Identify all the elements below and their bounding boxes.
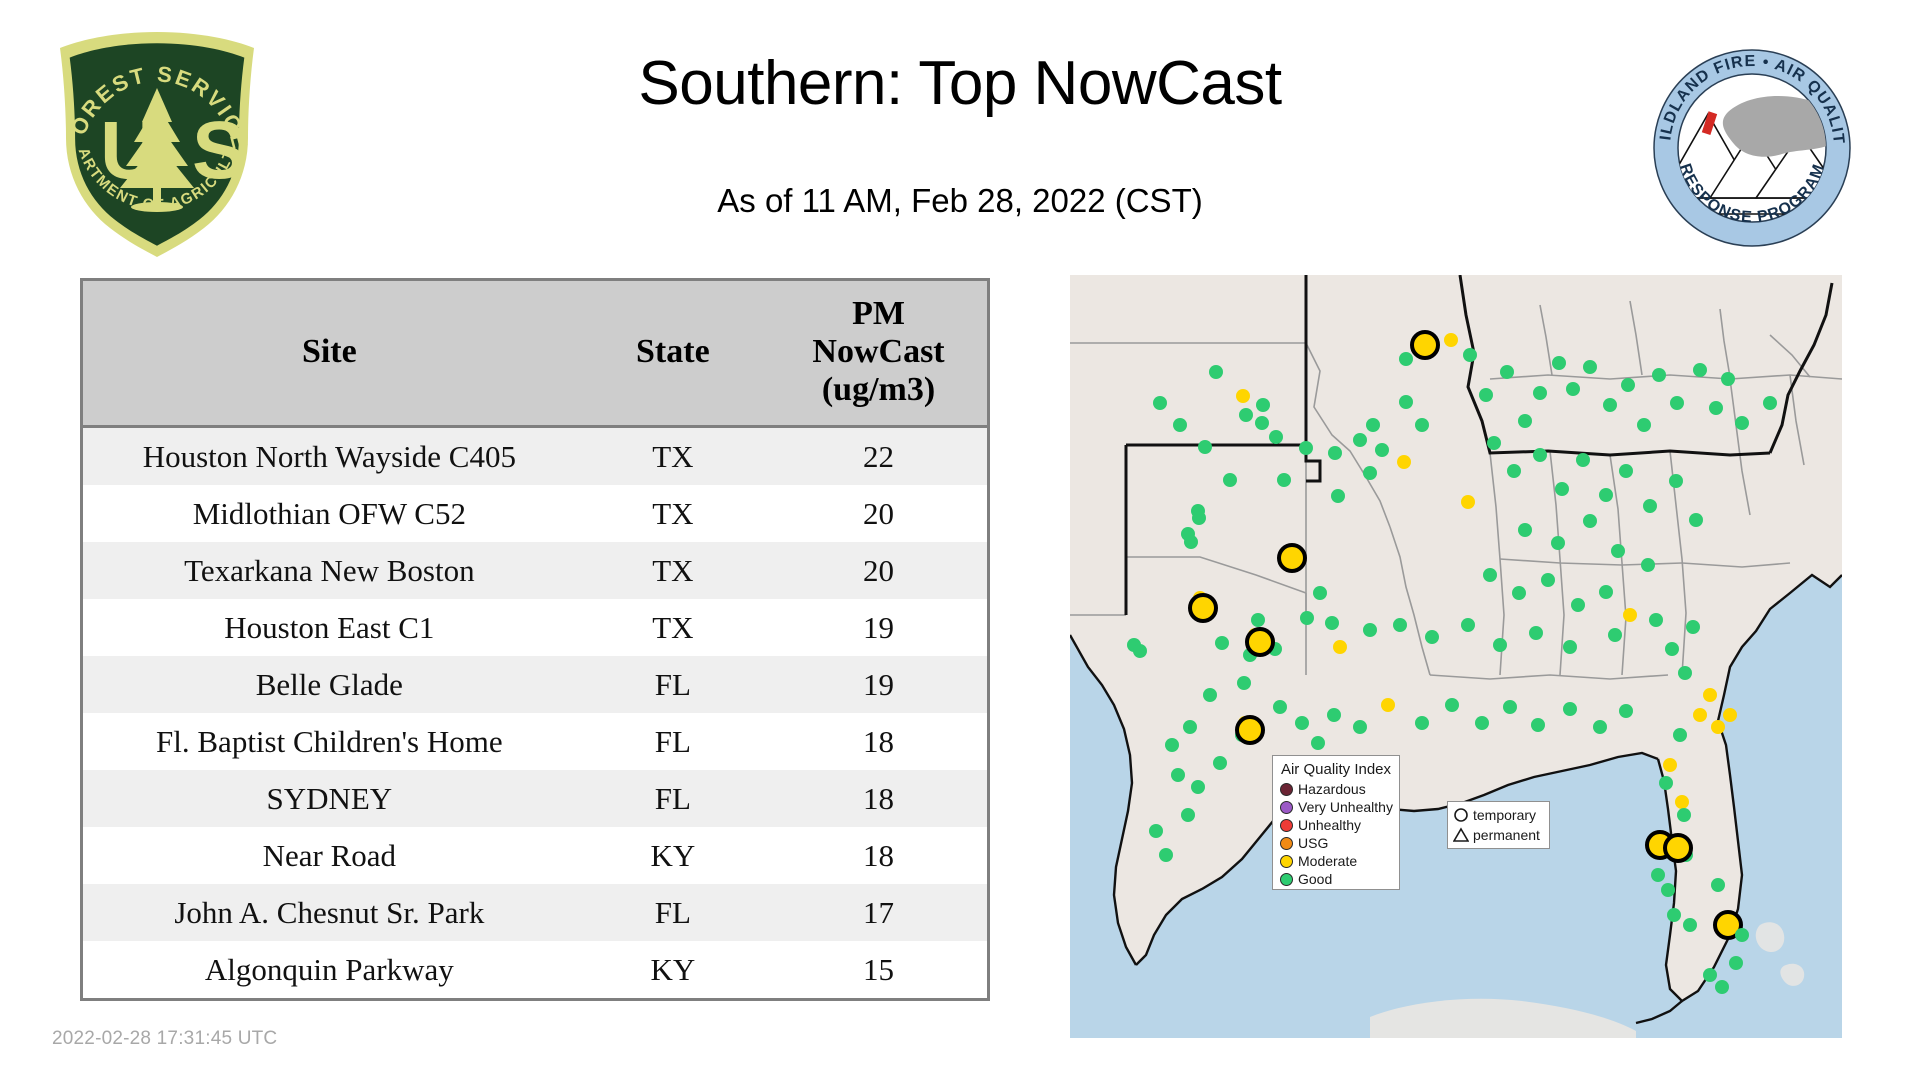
monitor-dot[interactable]	[1399, 395, 1413, 409]
monitor-dot[interactable]	[1711, 878, 1725, 892]
aqi-swatch-icon	[1280, 801, 1293, 814]
monitor-dot[interactable]	[1637, 418, 1651, 432]
state-cell: FL	[576, 713, 770, 770]
aqi-legend-row: Unhealthy	[1280, 817, 1392, 834]
monitor-dot[interactable]	[1313, 586, 1327, 600]
monitor-dot[interactable]	[1461, 495, 1475, 509]
monitor-dot[interactable]	[1269, 430, 1283, 444]
aqi-legend-label: Moderate	[1298, 854, 1357, 869]
state-cell: TX	[576, 427, 770, 486]
aqi-legend-row: Hazardous	[1280, 781, 1392, 798]
monitor-dot[interactable]	[1735, 416, 1749, 430]
monitor-dot[interactable]	[1375, 443, 1389, 457]
monitor-dot[interactable]	[1678, 666, 1692, 680]
monitor-dot[interactable]	[1183, 720, 1197, 734]
monitor-dot[interactable]	[1763, 396, 1777, 410]
monitor-dot[interactable]	[1173, 418, 1187, 432]
column-header-pm-line3: (ug/m3)	[774, 371, 983, 409]
monitor-dot[interactable]	[1273, 700, 1287, 714]
monitor-dot[interactable]	[1641, 558, 1655, 572]
aqi-swatch-icon	[1280, 855, 1293, 868]
monitor-dot[interactable]	[1277, 473, 1291, 487]
monitor-dot[interactable]	[1529, 626, 1543, 640]
state-cell: FL	[576, 770, 770, 827]
pm-nowcast-cell: 19	[770, 599, 987, 656]
monitor-dot[interactable]	[1723, 708, 1737, 722]
monitor-dot[interactable]	[1571, 598, 1585, 612]
monitor-dot[interactable]	[1665, 642, 1679, 656]
monitor-dot[interactable]	[1603, 398, 1617, 412]
air-quality-map[interactable]	[1070, 275, 1842, 1038]
column-header-state-label: State	[636, 333, 710, 370]
site-cell: Houston East C1	[83, 599, 576, 656]
monitor-dot[interactable]	[1683, 918, 1697, 932]
aqi-legend-row: USG	[1280, 835, 1392, 852]
monitor-dot[interactable]	[1325, 616, 1339, 630]
pm-nowcast-cell: 18	[770, 770, 987, 827]
table-row: Houston East C1TX19	[83, 599, 987, 656]
monitor-dot[interactable]	[1661, 883, 1675, 897]
monitor-dot[interactable]	[1703, 688, 1717, 702]
state-cell: KY	[576, 827, 770, 884]
monitor-dot[interactable]	[1295, 716, 1309, 730]
monitor-dot[interactable]	[1165, 738, 1179, 752]
monitor-dot[interactable]	[1487, 436, 1501, 450]
monitor-dot[interactable]	[1366, 418, 1380, 432]
state-cell: FL	[576, 656, 770, 713]
table-row: Algonquin ParkwayKY15	[83, 941, 987, 998]
monitor-dot[interactable]	[1251, 613, 1265, 627]
monitor-dot[interactable]	[1729, 956, 1743, 970]
aqi-legend-label: Very Unhealthy	[1298, 800, 1393, 815]
monitor-dot[interactable]	[1667, 908, 1681, 922]
monitor-dot[interactable]	[1608, 628, 1622, 642]
monitor-dot[interactable]	[1463, 348, 1477, 362]
monitor-dot[interactable]	[1686, 620, 1700, 634]
monitor-dot-highlighted[interactable]	[1412, 332, 1438, 358]
monitor-dot[interactable]	[1444, 333, 1458, 347]
monitor-dot[interactable]	[1711, 720, 1725, 734]
monitor-dot-highlighted[interactable]	[1279, 545, 1305, 571]
monitor-dot[interactable]	[1299, 441, 1313, 455]
monitor-dot[interactable]	[1563, 640, 1577, 654]
monitor-dot[interactable]	[1213, 756, 1227, 770]
usfs-shield-svg: FOREST SERVICE DEPARTMENT OF AGRICULTURE…	[52, 26, 262, 258]
site-cell: Near Road	[83, 827, 576, 884]
monitor-dot[interactable]	[1677, 808, 1691, 822]
monitor-dot-highlighted[interactable]	[1190, 595, 1216, 621]
aqi-legend-title: Air Quality Index	[1280, 761, 1392, 778]
monitor-dot[interactable]	[1311, 736, 1325, 750]
monitor-dot[interactable]	[1566, 382, 1580, 396]
monitor-dot[interactable]	[1552, 356, 1566, 370]
monitor-dot[interactable]	[1255, 416, 1269, 430]
monitor-dot[interactable]	[1619, 704, 1633, 718]
pm-nowcast-cell: 15	[770, 941, 987, 998]
monitor-dot[interactable]	[1703, 968, 1717, 982]
monitor-dot[interactable]	[1533, 448, 1547, 462]
site-cell: Midlothian OFW C52	[83, 485, 576, 542]
table-header-row: Site State PM NowCast (ug/m3)	[83, 281, 987, 427]
monitor-dot[interactable]	[1583, 514, 1597, 528]
aqi-swatch-icon	[1280, 819, 1293, 832]
monitor-dot[interactable]	[1475, 716, 1489, 730]
monitor-dot[interactable]	[1425, 630, 1439, 644]
monitor-dot[interactable]	[1236, 389, 1250, 403]
monitor-dot[interactable]	[1353, 433, 1367, 447]
monitor-dot[interactable]	[1191, 780, 1205, 794]
column-header-state: State	[576, 281, 770, 427]
monitor-dot[interactable]	[1651, 868, 1665, 882]
monitor-dot[interactable]	[1555, 482, 1569, 496]
state-cell: FL	[576, 884, 770, 941]
column-header-pm-line1: PM	[774, 295, 983, 333]
footer-timestamp: 2022-02-28 17:31:45 UTC	[52, 1028, 277, 1050]
monitor-dot-highlighted[interactable]	[1665, 835, 1691, 861]
site-cell: Houston North Wayside C405	[83, 427, 576, 486]
triangle-icon	[1453, 826, 1469, 844]
monitor-dot[interactable]	[1328, 446, 1342, 460]
pm-nowcast-cell: 20	[770, 542, 987, 599]
monitor-dot[interactable]	[1621, 378, 1635, 392]
site-cell: Texarkana New Boston	[83, 542, 576, 599]
monitor-dot[interactable]	[1670, 396, 1684, 410]
monitor-dot[interactable]	[1507, 464, 1521, 478]
monitor-dot[interactable]	[1237, 676, 1251, 690]
monitor-dot[interactable]	[1203, 688, 1217, 702]
monitor-dot[interactable]	[1563, 702, 1577, 716]
pm-nowcast-cell: 19	[770, 656, 987, 713]
monitor-dot[interactable]	[1184, 535, 1198, 549]
monitor-dot[interactable]	[1198, 440, 1212, 454]
pm-nowcast-cell: 17	[770, 884, 987, 941]
sensor-legend-row-permanent: permanent	[1453, 825, 1544, 845]
wfaqrp-svg: WILDLAND FIRE • AIR QUALITY RESPONSE PRO…	[1652, 48, 1852, 248]
aqi-legend-label: Unhealthy	[1298, 818, 1361, 833]
site-cell: Algonquin Parkway	[83, 941, 576, 998]
state-cell: TX	[576, 599, 770, 656]
monitor-dot[interactable]	[1300, 611, 1314, 625]
pm-nowcast-cell: 18	[770, 713, 987, 770]
monitor-dot[interactable]	[1689, 513, 1703, 527]
monitor-dot[interactable]	[1333, 640, 1347, 654]
pm-nowcast-cell: 20	[770, 485, 987, 542]
monitor-dot[interactable]	[1599, 488, 1613, 502]
site-cell: John A. Chesnut Sr. Park	[83, 884, 576, 941]
table-row: Texarkana New BostonTX20	[83, 542, 987, 599]
aqi-legend-label: USG	[1298, 836, 1328, 851]
monitor-dot[interactable]	[1327, 708, 1341, 722]
monitor-dot-highlighted[interactable]	[1247, 629, 1273, 655]
monitor-dot[interactable]	[1659, 776, 1673, 790]
monitor-dot[interactable]	[1223, 473, 1237, 487]
monitor-dot[interactable]	[1381, 698, 1395, 712]
monitor-dot[interactable]	[1153, 396, 1167, 410]
pm-nowcast-cell: 22	[770, 427, 987, 486]
monitor-dot[interactable]	[1159, 848, 1173, 862]
monitor-dot[interactable]	[1500, 365, 1514, 379]
sensor-type-legend: temporary permanent	[1447, 801, 1550, 849]
monitor-dot[interactable]	[1192, 511, 1206, 525]
aqi-legend-row: Good	[1280, 871, 1392, 888]
monitor-dot[interactable]	[1363, 466, 1377, 480]
state-cell: KY	[576, 941, 770, 998]
monitor-dot[interactable]	[1593, 720, 1607, 734]
monitor-dot[interactable]	[1541, 573, 1555, 587]
aqi-legend-row: Very Unhealthy	[1280, 799, 1392, 816]
monitor-dot[interactable]	[1715, 980, 1729, 994]
sensor-legend-label-temporary: temporary	[1473, 807, 1536, 823]
table-row: Fl. Baptist Children's HomeFL18	[83, 713, 987, 770]
monitor-dot[interactable]	[1623, 608, 1637, 622]
monitor-dot[interactable]	[1171, 768, 1185, 782]
table-body: Houston North Wayside C405TX22Midlothian…	[83, 427, 987, 999]
monitor-dot[interactable]	[1363, 623, 1377, 637]
monitor-dot[interactable]	[1533, 386, 1547, 400]
monitor-dot[interactable]	[1415, 716, 1429, 730]
monitor-dot[interactable]	[1331, 489, 1345, 503]
aqi-legend-label: Hazardous	[1298, 782, 1366, 797]
monitor-dot[interactable]	[1399, 352, 1413, 366]
monitor-dot[interactable]	[1576, 453, 1590, 467]
monitor-dot[interactable]	[1675, 795, 1689, 809]
monitor-dot[interactable]	[1721, 372, 1735, 386]
monitor-dot[interactable]	[1239, 408, 1253, 422]
usfs-letter-s: S	[192, 105, 247, 196]
table-row: Near RoadKY18	[83, 827, 987, 884]
monitor-dot[interactable]	[1518, 523, 1532, 537]
monitor-dot[interactable]	[1611, 544, 1625, 558]
monitor-dot[interactable]	[1669, 474, 1683, 488]
page-subtitle: As of 11 AM, Feb 28, 2022 (CST)	[300, 182, 1620, 220]
column-header-site-label: Site	[302, 333, 357, 370]
monitor-dot[interactable]	[1181, 808, 1195, 822]
monitor-dot-highlighted[interactable]	[1237, 717, 1263, 743]
monitor-dot[interactable]	[1215, 636, 1229, 650]
column-header-pm-line2: NowCast	[774, 333, 983, 371]
pm-nowcast-cell: 18	[770, 827, 987, 884]
usfs-shield-logo: FOREST SERVICE DEPARTMENT OF AGRICULTURE…	[52, 26, 262, 258]
aqi-swatch-icon	[1280, 783, 1293, 796]
sensor-legend-label-permanent: permanent	[1473, 827, 1540, 843]
page-title: Southern: Top NowCast	[300, 48, 1620, 119]
monitor-dot[interactable]	[1209, 365, 1223, 379]
aqi-legend-row: Moderate	[1280, 853, 1392, 870]
aqi-legend-rows: HazardousVery UnhealthyUnhealthyUSGModer…	[1280, 781, 1392, 888]
site-cell: Belle Glade	[83, 656, 576, 713]
monitor-dot[interactable]	[1693, 363, 1707, 377]
monitor-dot[interactable]	[1652, 368, 1666, 382]
monitor-dot[interactable]	[1393, 618, 1407, 632]
table-header: Site State PM NowCast (ug/m3)	[83, 281, 987, 427]
monitor-dot[interactable]	[1445, 698, 1459, 712]
monitor-dot[interactable]	[1503, 700, 1517, 714]
table-row: Belle GladeFL19	[83, 656, 987, 713]
monitor-dot[interactable]	[1512, 586, 1526, 600]
wfaqrp-logo: WILDLAND FIRE • AIR QUALITY RESPONSE PRO…	[1652, 48, 1852, 248]
state-cell: TX	[576, 542, 770, 599]
monitor-dot[interactable]	[1551, 536, 1565, 550]
table-row: John A. Chesnut Sr. ParkFL17	[83, 884, 987, 941]
monitor-dot[interactable]	[1493, 638, 1507, 652]
column-header-site: Site	[83, 281, 576, 427]
site-cell: SYDNEY	[83, 770, 576, 827]
sensor-legend-row-temporary: temporary	[1453, 805, 1544, 825]
map-svg	[1070, 275, 1842, 1038]
column-header-pm-nowcast: PM NowCast (ug/m3)	[770, 281, 987, 427]
monitor-dot[interactable]	[1415, 418, 1429, 432]
monitor-dot[interactable]	[1599, 585, 1613, 599]
aqi-swatch-icon	[1280, 837, 1293, 850]
monitor-dot[interactable]	[1479, 388, 1493, 402]
monitor-dot[interactable]	[1643, 499, 1657, 513]
site-cell: Fl. Baptist Children's Home	[83, 713, 576, 770]
monitor-dot[interactable]	[1709, 401, 1723, 415]
monitor-dot[interactable]	[1583, 360, 1597, 374]
monitor-dot[interactable]	[1663, 758, 1677, 772]
monitor-dot[interactable]	[1531, 718, 1545, 732]
monitor-dot[interactable]	[1649, 613, 1663, 627]
monitor-dot[interactable]	[1735, 928, 1749, 942]
aqi-legend-label: Good	[1298, 872, 1332, 887]
monitor-dot[interactable]	[1483, 568, 1497, 582]
monitor-dot[interactable]	[1518, 414, 1532, 428]
monitor-dot[interactable]	[1693, 708, 1707, 722]
table-row: Midlothian OFW C52TX20	[83, 485, 987, 542]
monitor-dot[interactable]	[1461, 618, 1475, 632]
monitor-dot[interactable]	[1619, 464, 1633, 478]
state-cell: TX	[576, 485, 770, 542]
top-nowcast-table: Site State PM NowCast (ug/m3) Houston No…	[80, 278, 990, 1001]
monitor-dot[interactable]	[1397, 455, 1411, 469]
table-row: Houston North Wayside C405TX22	[83, 427, 987, 486]
aqi-swatch-icon	[1280, 873, 1293, 886]
circle-icon	[1453, 806, 1469, 824]
monitor-dot[interactable]	[1256, 398, 1270, 412]
monitor-dot[interactable]	[1673, 728, 1687, 742]
monitor-dot[interactable]	[1353, 720, 1367, 734]
monitor-dot[interactable]	[1133, 644, 1147, 658]
table-row: SYDNEYFL18	[83, 770, 987, 827]
aqi-legend: Air Quality Index HazardousVery Unhealth…	[1272, 755, 1400, 890]
monitor-dot[interactable]	[1149, 824, 1163, 838]
